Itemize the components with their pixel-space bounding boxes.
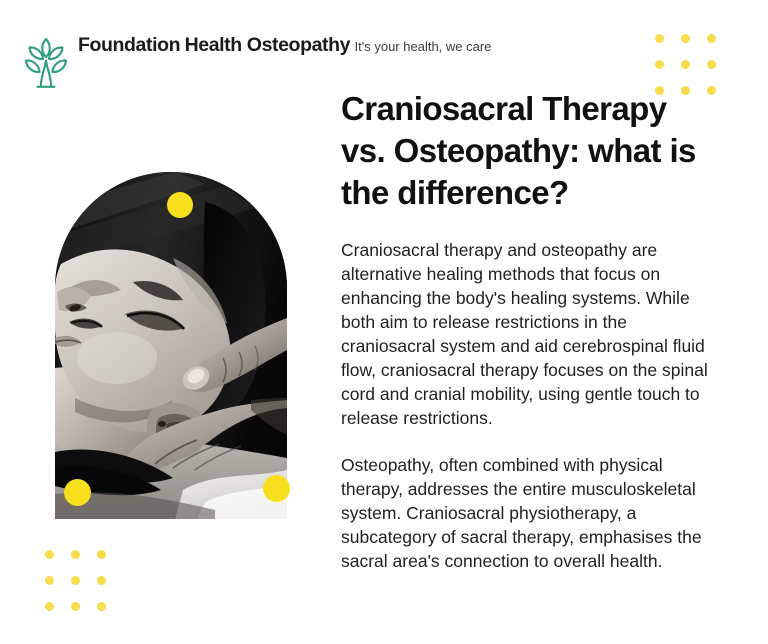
craniosacral-therapy-photo [55,172,287,519]
brand-name-line-2: Health Osteopathy [185,34,350,56]
decor-dot [97,576,106,585]
decor-dot [45,602,54,611]
article-paragraph-2: Osteopathy, often combined with physical… [341,453,709,573]
accent-dot-top [167,192,193,218]
decor-dot [655,60,664,69]
decor-dot [71,550,80,559]
decor-dot [45,576,54,585]
article-paragraph-1: Craniosacral therapy and osteopathy are … [341,238,709,430]
tree-plant-icon [22,35,70,91]
decor-dot [71,602,80,611]
dot-grid-bottom-left [45,550,106,611]
dot-grid-top-right [655,34,716,95]
decor-dot [45,550,54,559]
decor-dot [97,602,106,611]
poster-canvas: Foundation Health Osteopathy It's your h… [0,0,768,644]
brand-tagline: It's your health, we care [355,39,492,54]
decor-dot [655,34,664,43]
accent-dot-bottom-left [64,479,91,506]
brand-wordmark: Foundation Health Osteopathy It's your h… [78,34,491,57]
decor-dot [681,60,690,69]
decor-dot [97,550,106,559]
brand-name-line-1: Foundation [78,34,180,56]
decor-dot [681,34,690,43]
article-headline: Craniosacral Therapy vs. Osteopathy: wha… [341,88,709,214]
brand-logo[interactable]: Foundation Health Osteopathy It's your h… [22,34,491,91]
decor-dot [707,34,716,43]
accent-dot-bottom-right [263,475,290,502]
decor-dot [71,576,80,585]
decor-dot [707,60,716,69]
photo-container [55,172,287,519]
article-text-column: Craniosacral Therapy vs. Osteopathy: wha… [341,88,709,573]
